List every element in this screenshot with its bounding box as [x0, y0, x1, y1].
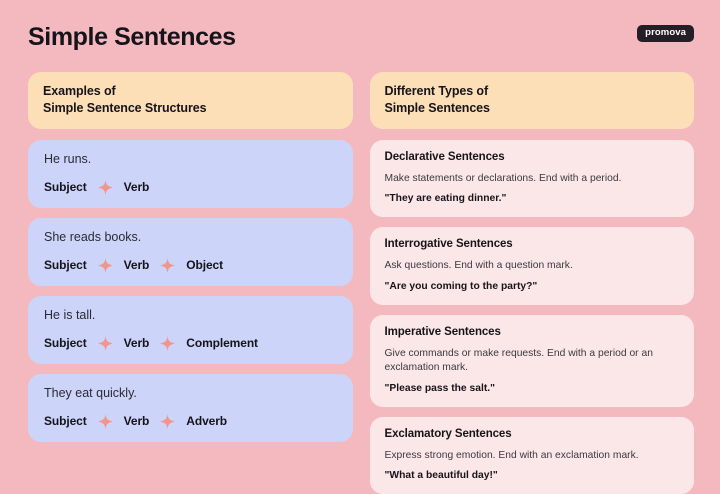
structure-formula: Subject Verb Complement — [44, 336, 337, 351]
poster-header: Simple Sentences promova — [28, 22, 694, 64]
sentence-type-example: "Please pass the salt." — [385, 382, 680, 396]
formula-term: Complement — [186, 336, 258, 350]
page-title: Simple Sentences — [28, 22, 694, 50]
sentence-type-card: Interrogative Sentences Ask questions. E… — [370, 227, 695, 304]
sentence-type-example: "What a beautiful day!" — [385, 469, 680, 483]
plus-star-icon — [98, 414, 113, 429]
sentence-type-example: "Are you coming to the party?" — [385, 280, 680, 294]
plus-star-icon — [160, 258, 175, 273]
plus-star-icon — [160, 336, 175, 351]
right-header-line-2: Simple Sentences — [385, 100, 680, 117]
structure-example-sentence: They eat quickly. — [44, 386, 337, 401]
left-header-line-1: Examples of — [43, 83, 338, 100]
plus-star-icon — [98, 180, 113, 195]
structure-formula: Subject Verb Object — [44, 258, 337, 273]
sentence-type-description: Give commands or make requests. End with… — [385, 347, 680, 376]
right-column-header: Different Types of Simple Sentences — [370, 72, 695, 129]
formula-term: Adverb — [186, 414, 227, 428]
structure-card: He is tall. Subject Verb Complement — [28, 296, 353, 364]
structure-example-sentence: He is tall. — [44, 308, 337, 323]
structure-card: She reads books. Subject Verb Object — [28, 218, 353, 286]
formula-term: Subject — [44, 180, 87, 194]
structure-example-sentence: He runs. — [44, 152, 337, 167]
sentence-type-card: Imperative Sentences Give commands or ma… — [370, 315, 695, 407]
promova-logo: promova — [637, 25, 694, 42]
plus-star-icon — [98, 336, 113, 351]
formula-term: Verb — [124, 336, 150, 350]
right-column-types: Different Types of Simple Sentences Decl… — [370, 72, 695, 494]
sentence-type-name: Exclamatory Sentences — [385, 427, 680, 442]
formula-term: Object — [186, 258, 223, 272]
structure-card: They eat quickly. Subject Verb Adverb — [28, 374, 353, 442]
structure-card: He runs. Subject Verb — [28, 140, 353, 208]
formula-term: Verb — [124, 258, 150, 272]
structure-formula: Subject Verb Adverb — [44, 414, 337, 429]
sentence-type-name: Declarative Sentences — [385, 150, 680, 165]
sentence-type-name: Interrogative Sentences — [385, 237, 680, 252]
content-columns: Examples of Simple Sentence Structures H… — [28, 72, 694, 494]
sentence-type-example: "They are eating dinner." — [385, 192, 680, 206]
right-header-line-1: Different Types of — [385, 83, 680, 100]
structure-formula: Subject Verb — [44, 180, 337, 195]
sentence-type-description: Make statements or declarations. End wit… — [385, 172, 680, 187]
sentence-type-description: Express strong emotion. End with an excl… — [385, 449, 680, 464]
formula-term: Subject — [44, 258, 87, 272]
sentence-type-card: Exclamatory Sentences Express strong emo… — [370, 417, 695, 494]
left-column-structures: Examples of Simple Sentence Structures H… — [28, 72, 353, 494]
sentence-type-description: Ask questions. End with a question mark. — [385, 259, 680, 274]
formula-term: Subject — [44, 336, 87, 350]
formula-term: Verb — [124, 180, 150, 194]
formula-term: Subject — [44, 414, 87, 428]
left-column-header: Examples of Simple Sentence Structures — [28, 72, 353, 129]
sentence-type-card: Declarative Sentences Make statements or… — [370, 140, 695, 217]
formula-term: Verb — [124, 414, 150, 428]
plus-star-icon — [160, 414, 175, 429]
left-header-line-2: Simple Sentence Structures — [43, 100, 338, 117]
infographic-poster: Simple Sentences promova Examples of Sim… — [0, 0, 720, 480]
sentence-type-name: Imperative Sentences — [385, 325, 680, 340]
plus-star-icon — [98, 258, 113, 273]
structure-example-sentence: She reads books. — [44, 230, 337, 245]
